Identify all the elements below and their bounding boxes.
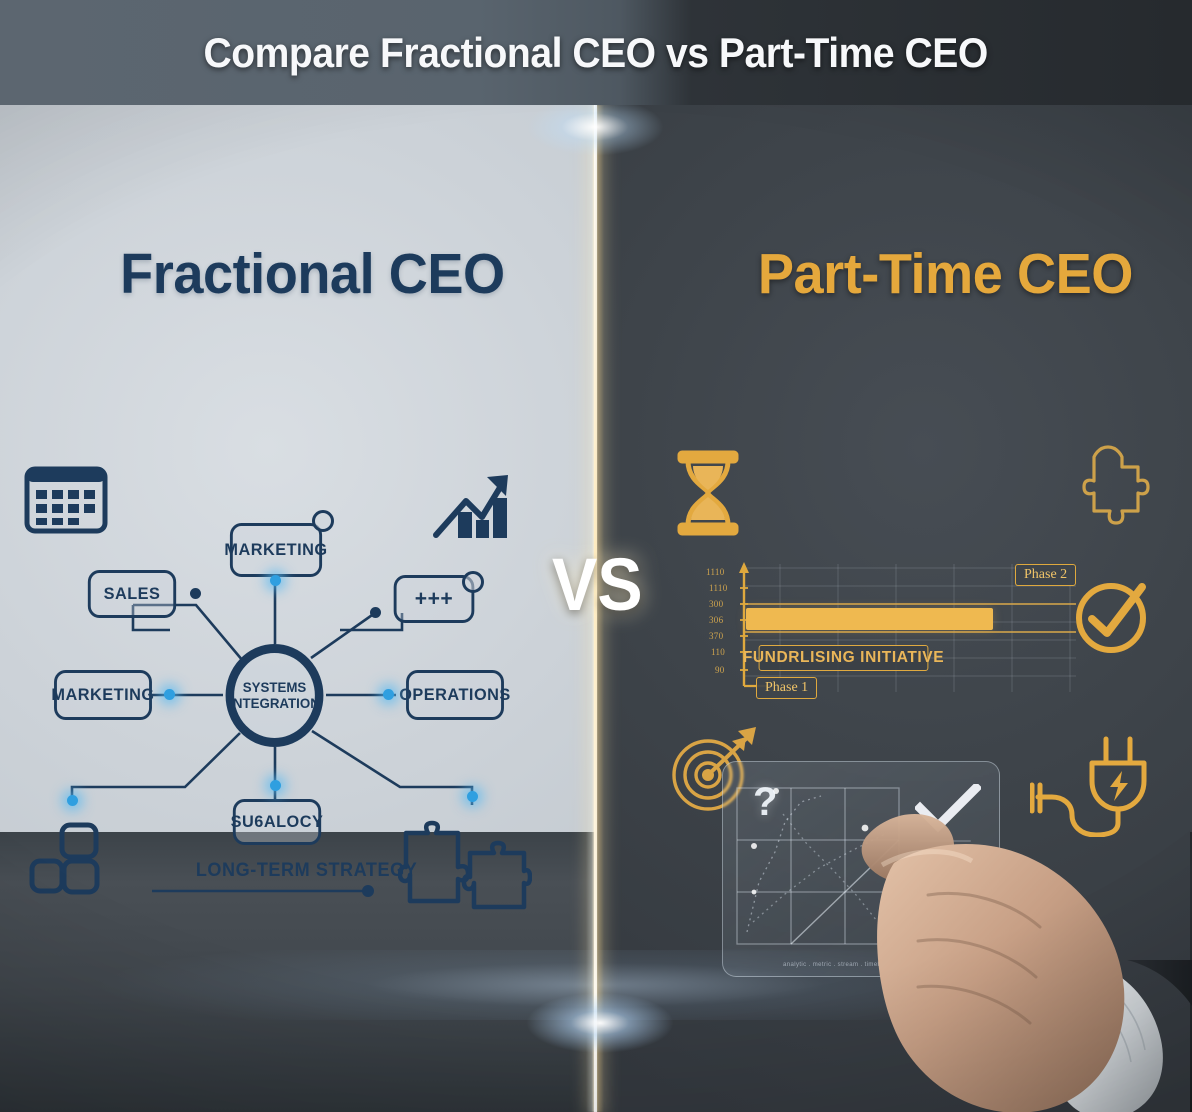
- gantt-y-tick: 300: [709, 599, 723, 609]
- gantt-y-tick: 1110: [709, 583, 728, 593]
- connector-dot: [67, 795, 78, 806]
- gantt-y-tick: 90: [715, 665, 725, 675]
- gantt-chart: 1110 1110 300 306 370 110 90 FUNDRLISING…: [700, 560, 1080, 700]
- header-bar: Compare Fractional CEO vs Part-Time CEO: [0, 0, 1192, 105]
- comparison-panels: Fractional CEO Part-Time CEO: [0, 105, 1192, 1112]
- long-term-strategy-label: LONG-TERM STRATEGY: [196, 860, 418, 882]
- growth-chart-icon: [430, 465, 516, 550]
- connector-dot: [270, 780, 281, 791]
- connector-dot: [467, 791, 478, 802]
- infographic-canvas: Compare Fractional CEO vs Part-Time CEO …: [0, 0, 1192, 1112]
- mindmap-node-subalocy[interactable]: SU6ALOCY: [233, 799, 321, 845]
- hand-photo: [832, 745, 1192, 1112]
- puzzle-piece-icon: [1068, 445, 1152, 538]
- mindmap-node-operations[interactable]: OPERATIONS: [406, 670, 504, 720]
- calendar-icon: [24, 461, 108, 540]
- hub-label-line1: SYSTEMS: [243, 680, 307, 696]
- connector-dot: [270, 575, 281, 586]
- gantt-y-tick: 110: [711, 647, 725, 657]
- node-endpoint-ring-icon: [312, 510, 334, 532]
- gantt-y-tick: 306: [709, 615, 723, 625]
- gantt-phase-2-tag[interactable]: Phase 2: [1015, 564, 1076, 586]
- puzzle-pieces-icon: [398, 805, 532, 918]
- vs-badge: VS: [552, 542, 640, 627]
- connector-dot: [370, 607, 381, 618]
- mindmap-node-marketing-left[interactable]: MARKETING: [54, 670, 152, 720]
- gantt-phase-1-tag[interactable]: Phase 1: [756, 677, 817, 699]
- right-panel-title: Part-Time CEO: [758, 241, 1133, 307]
- connector-dot: [383, 689, 394, 700]
- check-circle-icon: [1070, 575, 1152, 662]
- mindmap-hub-node[interactable]: SYSTEMS INTEGRATION: [226, 644, 324, 747]
- connector-dot: [164, 689, 175, 700]
- mindmap-node-marketing-top[interactable]: MARKETING: [230, 523, 322, 577]
- blocks-icon: [26, 819, 108, 902]
- header-title: Compare Fractional CEO vs Part-Time CEO: [204, 29, 988, 77]
- gantt-y-tick: 1110: [706, 567, 725, 577]
- node-endpoint-ring-icon: [462, 571, 484, 593]
- mindmap-node-sales[interactable]: SALES: [88, 570, 176, 618]
- question-mark-label: ?: [753, 780, 777, 825]
- left-panel-title: Fractional CEO: [120, 241, 505, 307]
- connector-dot: [190, 588, 201, 599]
- gantt-bar[interactable]: [746, 608, 993, 630]
- gantt-y-tick: 370: [709, 631, 723, 641]
- gantt-bar-label-fundraising[interactable]: FUNDRLISING INITIATIVE: [759, 645, 929, 671]
- hub-label-line2: INTEGRATION: [229, 696, 320, 712]
- hourglass-icon: [672, 450, 744, 541]
